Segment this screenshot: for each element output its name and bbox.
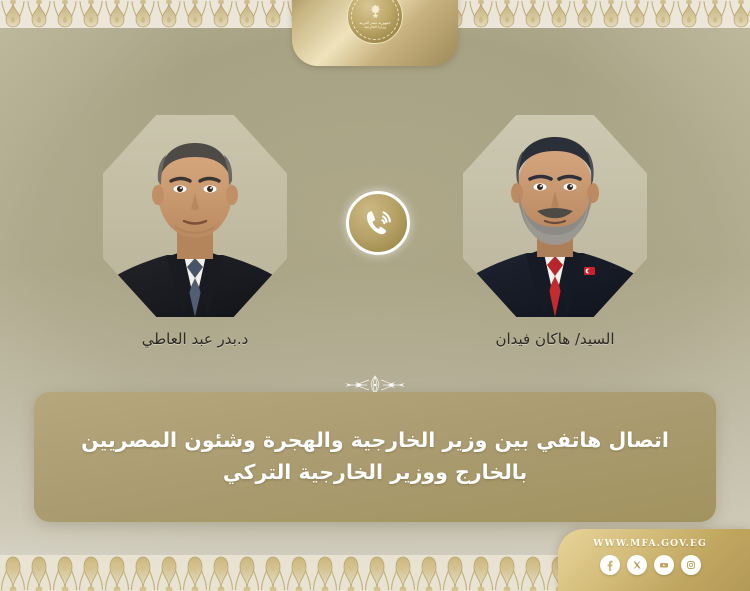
person-name-left: د.بدر عبد العاطي [95,330,295,348]
person-card-left: د.بدر عبد العاطي [95,112,295,357]
x-twitter-icon[interactable] [627,555,647,575]
headline-text: اتصال هاتفي بين وزير الخارجية والهجرة وش… [34,425,716,489]
headline-banner: اتصال هاتفي بين وزير الخارجية والهجرة وش… [34,392,716,522]
octagon-photo-right [463,115,647,317]
photo-badr-abdelatty [103,115,287,317]
octagon-frame-right [460,112,650,320]
emblem-arabic-text: جمهورية مصر العربية وزارة الخارجية [359,21,391,30]
egypt-state-emblem-icon: جمهورية مصر العربية وزارة الخارجية [347,0,403,44]
youtube-icon[interactable] [654,555,674,575]
person-name-right: السيد/ هاكان فيدان [455,330,655,348]
eagle-of-saladin-icon [368,3,383,20]
emblem-panel: جمهورية مصر العربية وزارة الخارجية [292,0,458,66]
social-media-card: جمهورية مصر العربية وزارة الخارجية [0,0,750,591]
youtube-glyph [658,559,670,571]
phone-call-icon [346,191,410,255]
footer-panel: WWW.MFA.GOV.EG [558,529,750,591]
x-glyph [631,559,643,571]
instagram-glyph [685,559,697,571]
social-links-row [558,555,742,575]
instagram-icon[interactable] [681,555,701,575]
person-card-right: السيد/ هاكان فيدان [455,112,655,357]
facebook-glyph [604,559,616,571]
telephone-handset-icon [362,207,394,239]
octagon-frame-left [100,112,290,320]
octagon-photo-left [103,115,287,317]
facebook-icon[interactable] [600,555,620,575]
website-url[interactable]: WWW.MFA.GOV.EG [558,538,742,549]
photo-hakan-fidan [463,115,647,317]
